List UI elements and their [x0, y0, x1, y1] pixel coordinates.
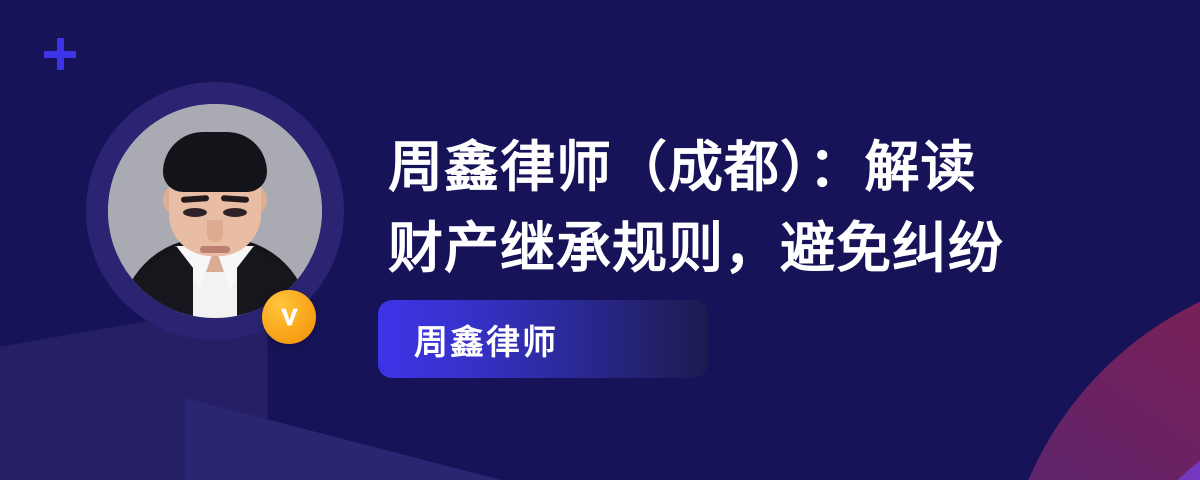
page-title: 周鑫律师（成都）：解读 财产继承规则，避免纠纷 — [388, 127, 1088, 289]
author-name-badge[interactable]: 周鑫律师 — [378, 300, 708, 378]
decorative-polygon-bottom — [185, 398, 615, 480]
plus-icon — [44, 38, 76, 70]
avatar-photo — [108, 104, 322, 318]
decorative-arc-inner — [1078, 392, 1200, 480]
title-line-1: 周鑫律师（成都）：解读 — [388, 127, 1088, 208]
avatar[interactable] — [86, 82, 344, 340]
decorative-polygon-corner — [0, 448, 140, 480]
author-name-label: 周鑫律师 — [414, 315, 558, 364]
decorative-arc-outer — [1000, 268, 1200, 480]
verified-v-icon — [262, 290, 316, 344]
promo-banner: 周鑫律师（成都）：解读 财产继承规则，避免纠纷 周鑫律师 — [0, 0, 1200, 480]
title-line-2: 财产继承规则，避免纠纷 — [388, 208, 1088, 289]
